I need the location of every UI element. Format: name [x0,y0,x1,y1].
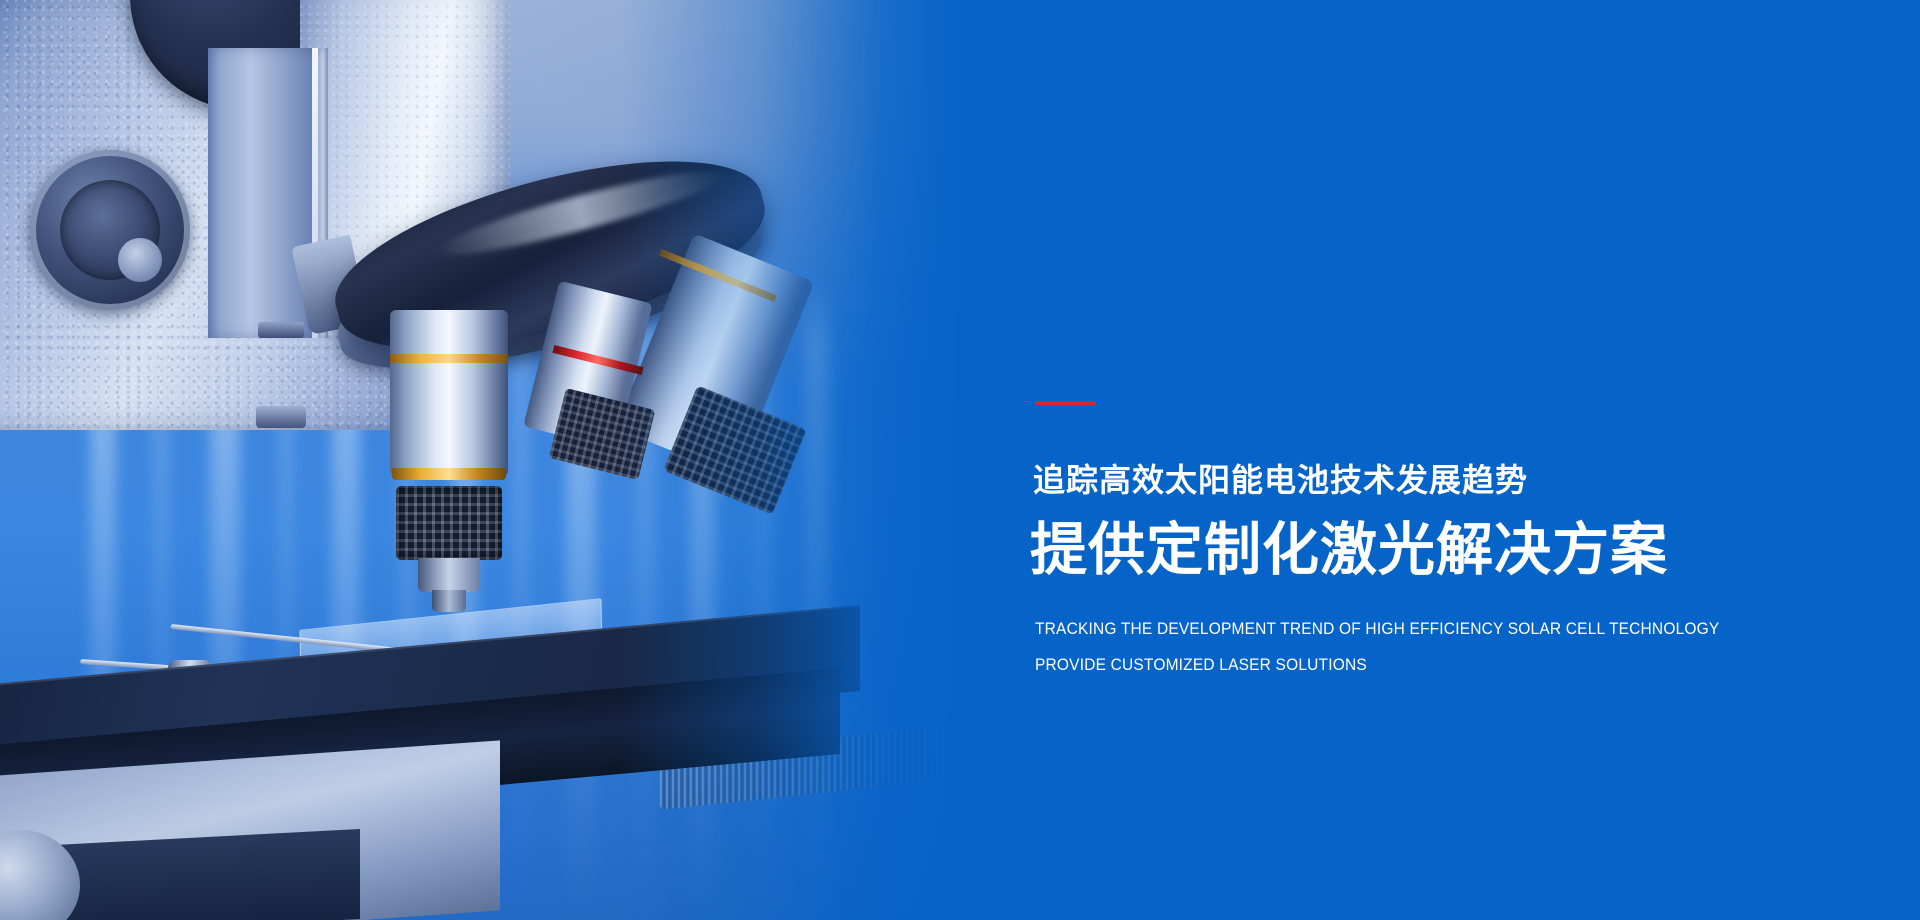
photo-fade-to-blue [0,0,1000,920]
microscope-photo [0,0,1000,920]
hero-english-line-2: PROVIDE CUSTOMIZED LASER SOLUTIONS [1035,656,1367,675]
hero-english-line-1: TRACKING THE DEVELOPMENT TREND OF HIGH E… [1035,620,1719,639]
hero-text-block: 追踪高效太阳能电池技术发展趋势 提供定制化激光解决方案 TRACKING THE… [1033,0,1793,920]
hero-title-cn: 提供定制化激光解决方案 [1030,518,1668,584]
accent-rule [1035,401,1096,405]
hero-banner: 追踪高效太阳能电池技术发展趋势 提供定制化激光解决方案 TRACKING THE… [0,0,1920,920]
hero-subtitle-cn: 追踪高效太阳能电池技术发展趋势 [1033,463,1528,498]
